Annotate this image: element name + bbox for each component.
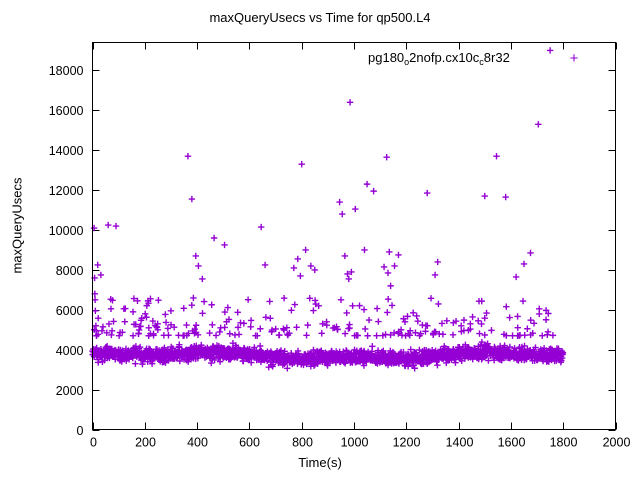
scatter-point [288,307,294,313]
scatter-point [467,321,473,327]
scatter-point [248,317,254,323]
scatter-point [142,311,148,317]
x-tick-label: 1400 [446,436,474,450]
legend-label-sub-2: c [479,57,484,67]
y-tick-label: 2000 [56,384,84,398]
scatter-point [385,270,391,276]
scatter-point [302,247,308,253]
scatter-point [168,308,174,314]
scatter-point [521,261,527,267]
scatter-point [410,310,416,316]
scatter-point [292,301,298,307]
scatter-point [475,318,481,324]
scatter-point [384,309,390,315]
scatter-points-group [89,47,566,371]
scatter-point [482,332,488,338]
x-tick-label: 400 [187,436,208,450]
scatter-point [248,324,254,330]
scatter-point [364,333,370,339]
y-tick-label: 12000 [49,184,84,198]
scatter-point [162,311,168,317]
scatter-point [189,196,195,202]
scatter-point [381,264,387,270]
scatter-point [245,297,251,303]
scatter-point [209,322,215,328]
scatter-point [361,306,367,312]
scatter-point [478,321,484,327]
scatter-point [295,256,301,262]
x-tick-label: 1000 [341,436,369,450]
scatter-point [339,211,345,217]
chart-root: maxQueryUsecs vs Time for qp500.L4 maxQu… [0,0,640,480]
scatter-point [413,313,419,319]
scatter-point [213,332,219,338]
scatter-point [199,310,205,316]
scatter-point [105,222,111,228]
scatter-point [428,295,434,301]
scatter-point [155,297,161,303]
x-tick-label: 1800 [550,436,578,450]
scatter-point [513,274,519,280]
scatter-point [257,343,263,349]
scatter-point [434,259,440,265]
scatter-point [146,325,152,331]
scatter-point [95,315,101,321]
scatter-point [550,332,556,338]
scatter-point [506,314,512,320]
scatter-point [291,265,297,271]
scatter-point [386,249,392,255]
legend-marker-plus-icon: + [566,51,582,67]
legend-label-part-2: 2nofp.cx10c [409,50,479,65]
scatter-point [362,326,368,332]
scatter-point [227,331,233,337]
scatter-point [391,263,397,269]
legend-label-part-1: pg180 [368,50,404,65]
scatter-point [522,332,528,338]
scatter-point [262,262,268,268]
scatter-point [193,322,199,328]
scatter-point [217,325,223,331]
scatter-point [293,324,299,330]
y-tick-label: 16000 [49,104,84,118]
scatter-point [383,154,389,160]
scatter-point [342,253,348,259]
y-tick-label: 14000 [49,144,84,158]
scatter-point [375,318,381,324]
scatter-point [385,296,391,302]
scatter-point [263,314,269,320]
scatter-point [387,283,393,289]
scatter-point [374,305,380,311]
scatter-point [181,305,187,311]
scatter-point [280,326,286,332]
y-tick-label: 18000 [49,64,84,78]
scatter-point [100,324,106,330]
scatter-point [515,324,521,330]
scatter-point [266,298,272,304]
legend-label-part-3: 8r32 [484,50,510,65]
plot-frame [93,43,616,430]
scatter-point [488,327,494,333]
scatter-point [199,276,205,282]
scatter-point [415,318,421,324]
x-tick-label: 0 [90,436,97,450]
scatter-point [258,224,264,230]
scatter-point [349,303,355,309]
scatter-point [524,326,530,332]
scatter-point [121,306,127,312]
scatter-point [539,332,545,338]
scatter-point [310,307,316,313]
scatter-point [185,153,191,159]
scatter-point [370,188,376,194]
scatter-point [395,252,401,258]
scatter-point [366,317,372,323]
scatter-point [361,247,367,253]
scatter-point [165,325,171,331]
scatter-point [535,121,541,127]
scatter-point [267,315,273,321]
x-tick-label: 600 [239,436,260,450]
scatter-point [116,333,122,339]
scatter-point [346,325,352,331]
y-tick-label: 4000 [56,344,84,358]
x-tick-label: 2000 [603,436,631,450]
scatter-point [514,313,520,319]
plot-area: 0200040006000800010000120001400016000180… [0,0,640,480]
scatter-point [476,330,482,336]
scatter-point [434,362,440,368]
scatter-point [440,331,446,337]
scatter-point [389,302,395,308]
scatter-point [342,330,348,336]
x-tick-label: 800 [292,436,313,450]
scatter-point [338,297,344,303]
x-tick-group: 0200400600800100012001400160018002000 [90,43,630,450]
scatter-point [143,314,149,320]
y-tick-label: 8000 [56,264,84,278]
y-tick-label: 0 [77,424,84,438]
scatter-point [299,161,305,167]
scatter-point [165,332,171,338]
scatter-point [195,263,201,269]
scatter-point [369,343,375,349]
scatter-point [493,153,499,159]
scatter-point [520,298,526,304]
scatter-point [98,272,104,278]
x-tick-label: 200 [135,436,156,450]
scatter-point [232,332,238,338]
scatter-point [132,360,138,366]
x-tick-label: 1200 [393,436,421,450]
scatter-point [95,262,101,268]
x-tick-label: 1600 [498,436,526,450]
scatter-point [482,193,488,199]
scatter-point [450,332,456,338]
scatter-point [135,330,141,336]
scatter-point [424,190,430,196]
scatter-point [432,272,438,278]
scatter-point [356,302,362,308]
scatter-point [547,47,553,53]
scatter-point [130,333,136,339]
scatter-point [435,301,441,307]
scatter-point [217,329,223,335]
scatter-point [312,267,318,273]
scatter-point [211,235,217,241]
y-tick-label: 10000 [49,224,84,238]
scatter-point [221,242,227,248]
scatter-point [346,276,352,282]
scatter-point [206,330,212,336]
scatter-point [364,181,370,187]
scatter-point [130,309,136,315]
scatter-point [336,199,342,205]
scatter-point [528,317,534,323]
scatter-point [319,330,325,336]
scatter-point [175,332,181,338]
scatter-point [509,333,515,339]
scatter-point [257,326,263,332]
scatter-point [461,317,467,323]
scatter-point [183,322,189,328]
scatter-point [189,302,195,308]
y-tick-label: 6000 [56,304,84,318]
legend-entry: pg180o2nofp.cx10cc8r32 [368,50,510,67]
scatter-point [297,273,303,279]
scatter-point [527,250,533,256]
scatter-point [193,253,199,259]
scatter-point [122,319,128,325]
scatter-point [423,322,429,328]
scatter-point [108,306,114,312]
scatter-point [303,332,309,338]
scatter-point [305,322,311,328]
legend-label-sub-1: o [404,57,409,67]
scatter-point [201,298,207,304]
scatter-point [543,317,549,323]
scatter-point [469,314,475,320]
scatter-point [281,295,287,301]
scatter-point [208,360,214,366]
scatter-point [344,310,350,316]
scatter-point [235,309,241,315]
scatter-point [503,304,509,310]
scatter-point [113,223,119,229]
scatter-point [276,332,282,338]
scatter-point [137,344,143,350]
scatter-point [373,332,379,338]
scatter-point [352,206,358,212]
scatter-point [190,295,196,301]
scatter-point [536,306,542,312]
scatter-point [92,308,98,314]
scatter-point [208,302,214,308]
scatter-point [502,194,508,200]
scatter-point [531,320,537,326]
scatter-point [308,263,314,269]
scatter-point [347,99,353,105]
